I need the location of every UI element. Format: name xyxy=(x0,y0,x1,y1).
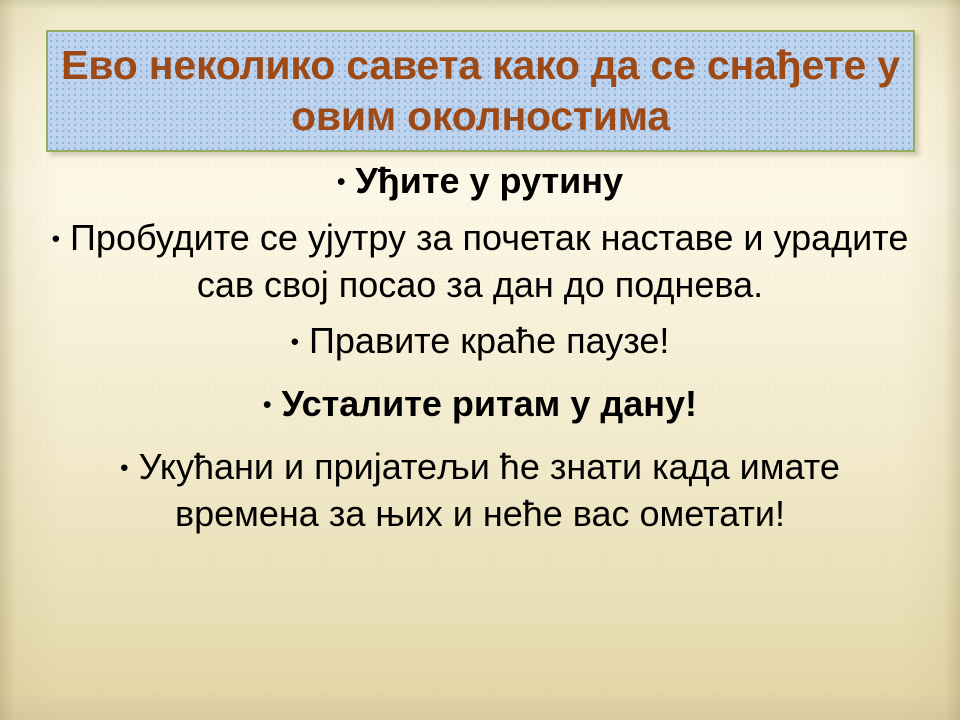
bullet-item-2[interactable]: • Пробудите се ујутру за почетак наставе… xyxy=(44,215,916,309)
presentation-slide: Ево неколико савета како да се снађете у… xyxy=(0,0,960,720)
bullet-marker-icon: • xyxy=(337,169,345,196)
bullet-item-5-label: Укућани и пријатељи ће знати када имате … xyxy=(139,446,840,534)
bullet-marker-icon: • xyxy=(291,329,299,356)
bullet-marker-icon: • xyxy=(52,225,60,252)
spacer xyxy=(44,369,916,381)
bullet-marker-icon: • xyxy=(263,392,271,419)
bullet-item-1-label: Уђите у рутину xyxy=(355,160,623,201)
bullet-item-3-label: Правите краће паузе! xyxy=(309,320,669,361)
bullet-item-1[interactable]: • Уђите у рутину xyxy=(44,158,916,205)
slide-body-content: • Уђите у рутину • Пробудите се ујутру з… xyxy=(44,158,916,542)
bullet-marker-icon: • xyxy=(120,455,128,482)
slide-title-text: Ево неколико савета како да се снађете у… xyxy=(48,40,913,142)
bullet-item-3[interactable]: • Правите краће паузе! xyxy=(44,318,916,365)
bullet-item-4[interactable]: • Усталите ритам у дану! xyxy=(44,381,916,428)
bullet-item-4-label: Усталите ритам у дану! xyxy=(281,383,697,424)
slide-title-box[interactable]: Ево неколико савета како да се снађете у… xyxy=(46,30,915,152)
spacer xyxy=(44,432,916,444)
bullet-item-5[interactable]: • Укућани и пријатељи ће знати када имат… xyxy=(44,444,916,538)
bullet-item-2-label: Пробудите се ујутру за почетак наставе и… xyxy=(70,217,908,305)
